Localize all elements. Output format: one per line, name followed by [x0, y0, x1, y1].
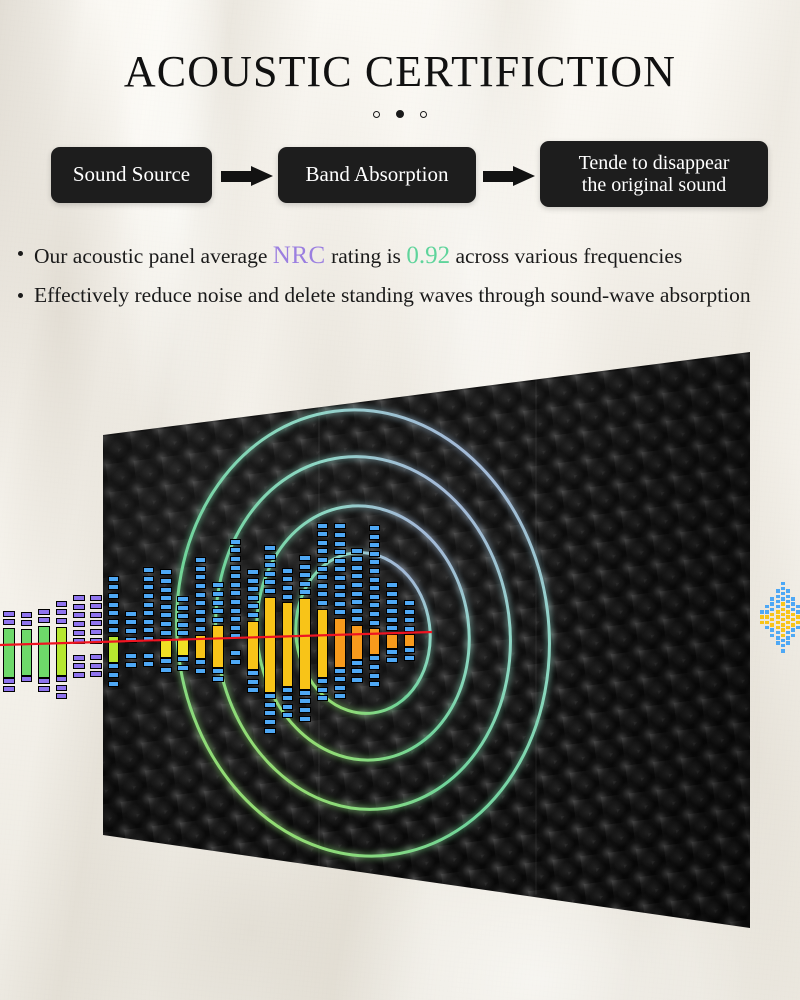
- flow-box-tende-line: the original sound: [582, 174, 726, 196]
- nrc-highlight: NRC: [273, 242, 326, 269]
- arrow-band-to-tende-icon: [483, 166, 535, 186]
- arrow-head: [251, 166, 273, 186]
- list-item: Our acoustic panel average NRC rating is…: [16, 238, 792, 274]
- panel-vignette: [0, 330, 800, 950]
- bullet-text: Effectively reduce noise and delete stan…: [34, 283, 751, 307]
- flow-box-tende-line: Tende to disappear: [579, 152, 730, 174]
- list-item: Effectively reduce noise and delete stan…: [16, 280, 792, 311]
- dot-1-icon: [373, 111, 380, 118]
- pagination-dots: [0, 110, 800, 118]
- arrow-sound-to-band-icon: [221, 166, 273, 186]
- acoustic-foam-panel: [0, 330, 800, 950]
- nrc-score-highlight: 0.92: [406, 242, 450, 269]
- flow-box-sound-source: Sound Source: [51, 147, 212, 203]
- flow-box-band-absorption: Band Absorption: [278, 147, 476, 203]
- bullet-text: across various frequencies: [450, 244, 682, 268]
- arrow-shaft: [221, 171, 253, 182]
- bullet-text: rating is: [326, 244, 407, 268]
- slide-root: ACOUSTIC CERTIFICTION Sound Source Band …: [0, 0, 800, 1000]
- page-title: ACOUSTIC CERTIFICTION: [0, 46, 800, 97]
- flow-box-tende-label: Tende to disappearthe original sound: [579, 152, 730, 197]
- arrow-shaft: [483, 171, 515, 182]
- bullet-text: Our acoustic panel average: [34, 244, 273, 268]
- arrow-head: [513, 166, 535, 186]
- flow-box-tende-to-disappear: Tende to disappearthe original sound: [540, 141, 768, 207]
- bullet-list: Our acoustic panel average NRC rating is…: [16, 238, 792, 316]
- process-flow: Sound Source Band Absorption Tende to di…: [0, 143, 800, 211]
- dot-2-icon: [396, 110, 404, 118]
- acoustic-panel-figure: [0, 330, 800, 950]
- dot-3-icon: [420, 111, 427, 118]
